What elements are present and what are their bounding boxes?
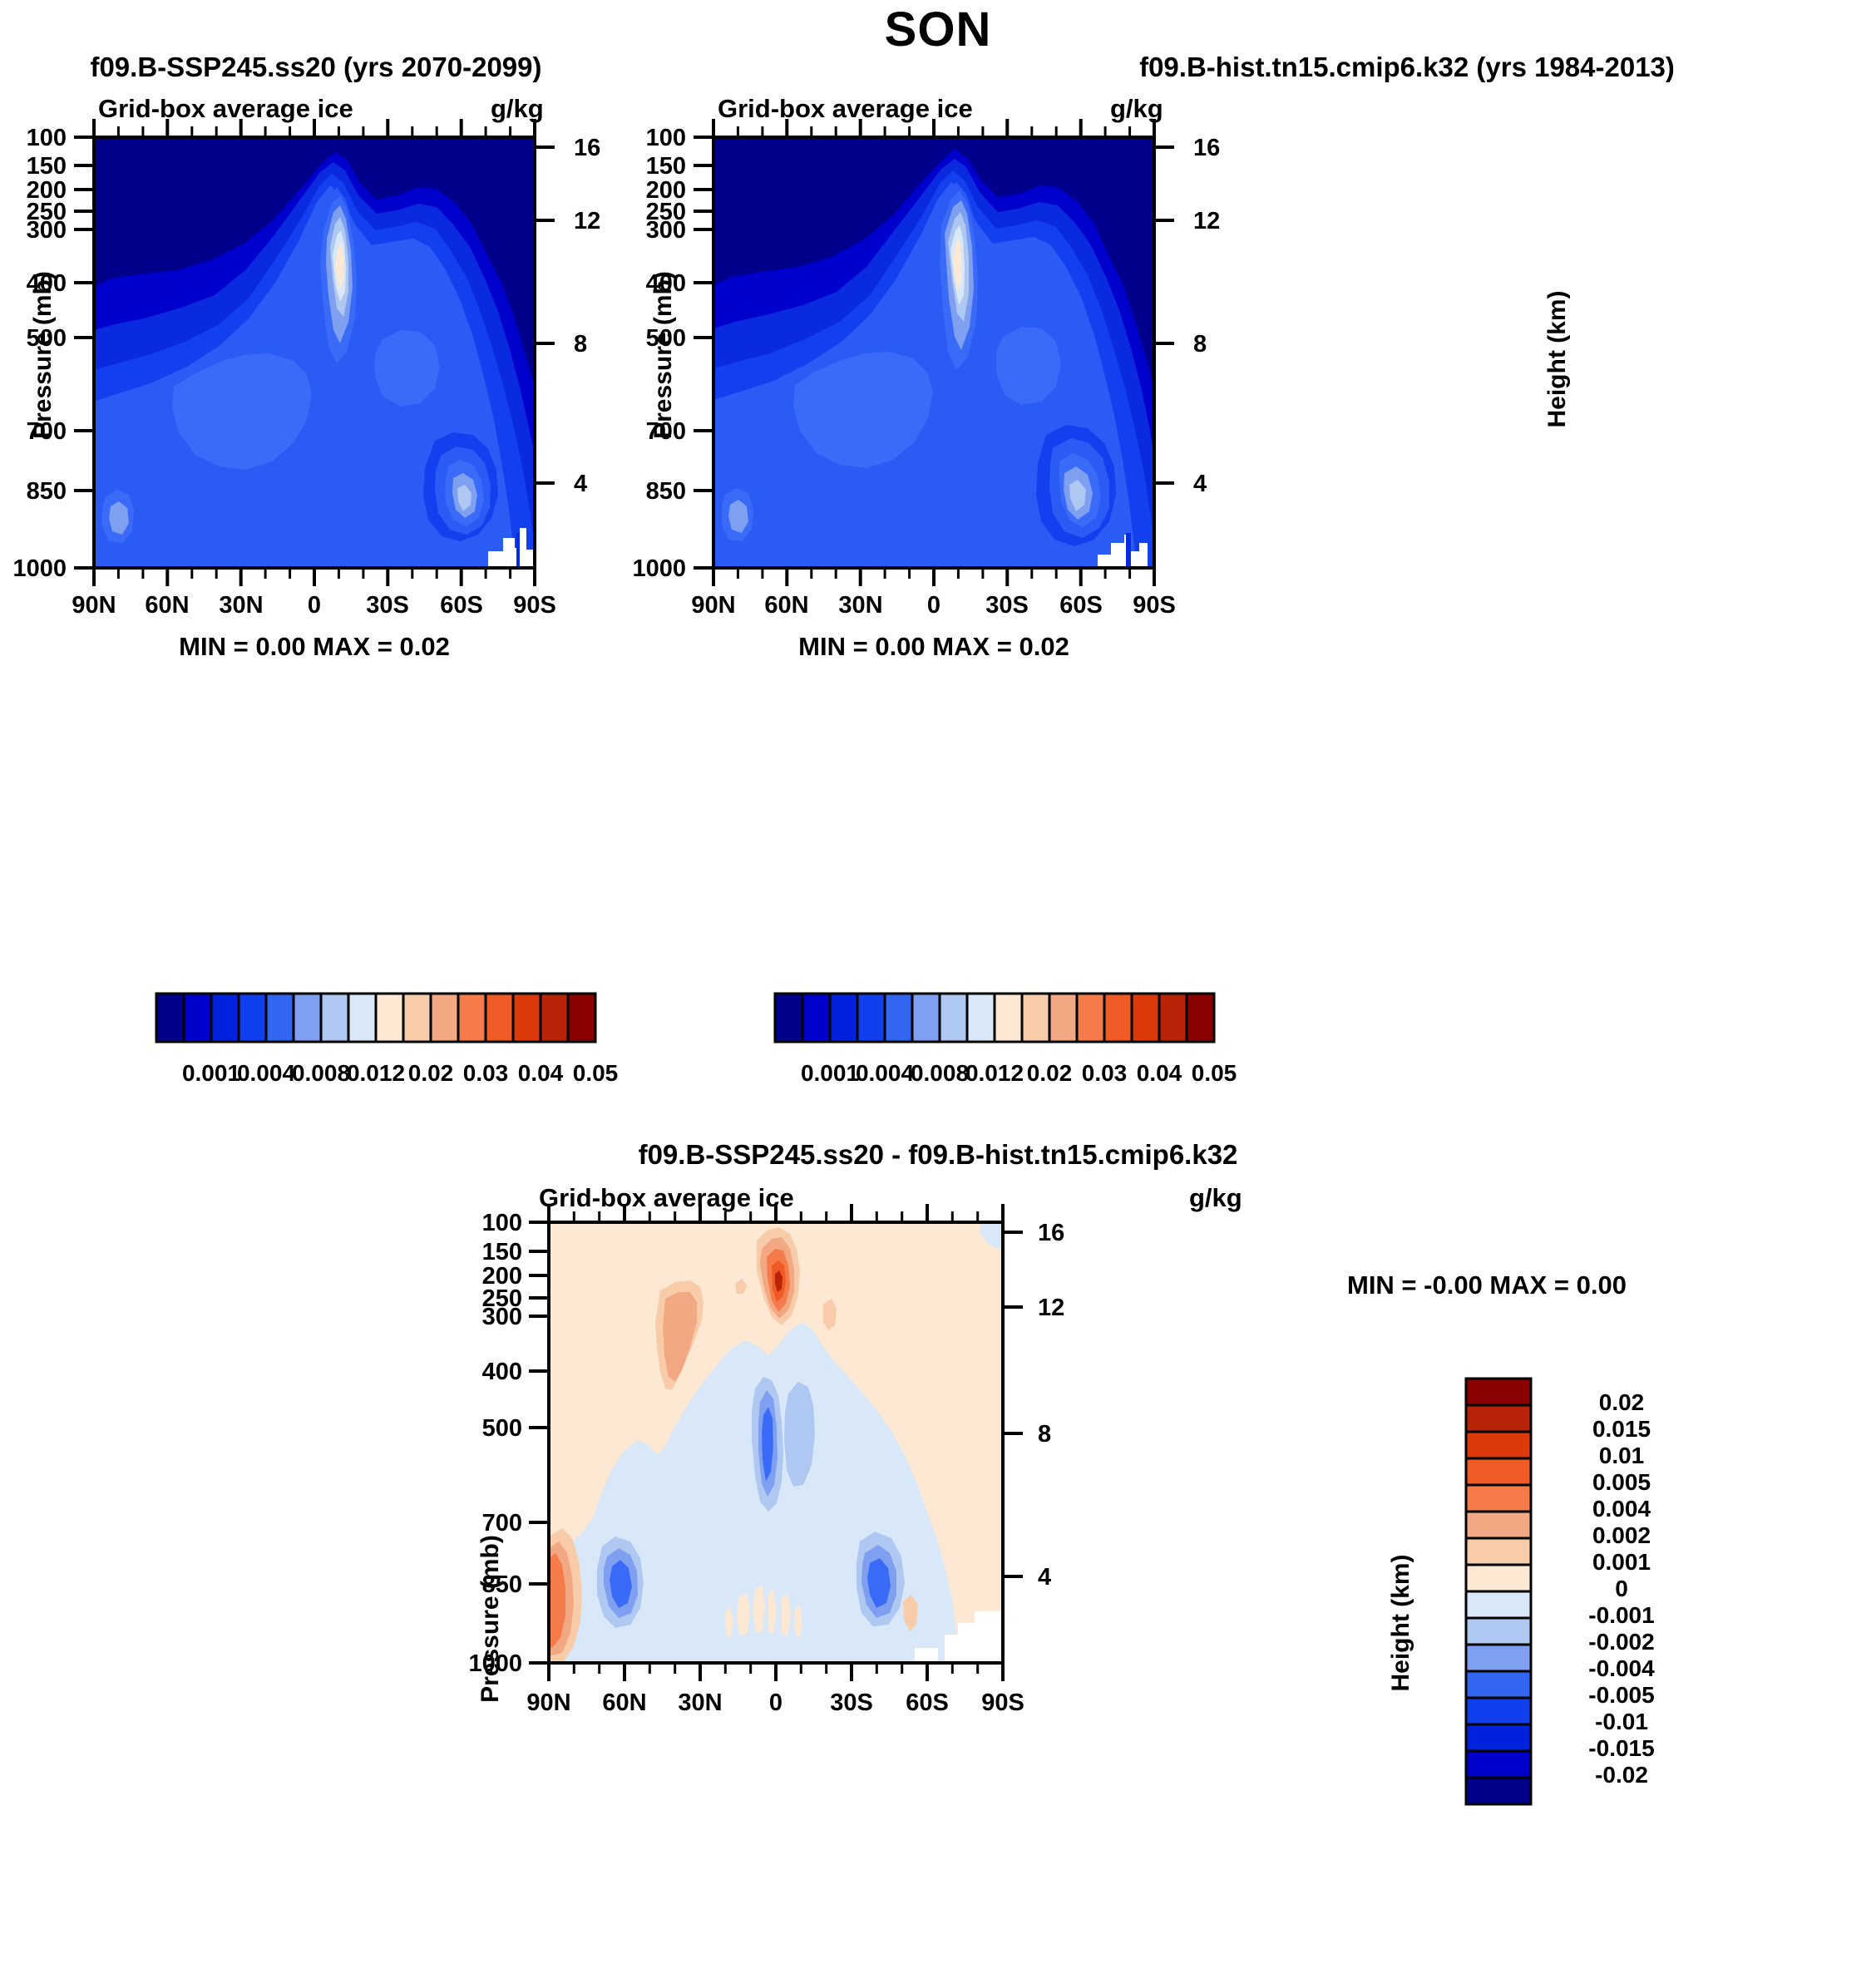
ytick-label: 700 (0, 418, 67, 446)
y2tick-label: 8 (1038, 1421, 1051, 1448)
ytick-label: 700 (456, 1510, 522, 1537)
ytick-label: 400 (0, 270, 67, 298)
colorbar-horizontal-top-left (156, 994, 600, 1047)
xtick-label: 90S (493, 592, 576, 619)
colorbar-tick-label: 0.05 (550, 1060, 641, 1087)
colorbar-vertical-difference (1466, 1379, 1541, 1811)
xtick-label: 60S (886, 1689, 969, 1717)
colorbar-tick-label: -0.005 (1551, 1682, 1692, 1709)
y2tick-label: 4 (1038, 1564, 1051, 1591)
xtick-label: 30N (200, 592, 283, 619)
xtick-label: 30S (810, 1689, 893, 1717)
xtick-label: 60N (583, 1689, 666, 1717)
panel-title-top-right: f09.B-hist.tn15.cmip6.k32 (yrs 1984-2013… (938, 52, 1876, 83)
colorbar-tick-label: 0.004 (1551, 1496, 1692, 1522)
contour-plot-difference (549, 1222, 1048, 1663)
colorbar-tick-label: 0.002 (1551, 1522, 1692, 1549)
xtick-label: 60N (745, 592, 828, 619)
xtick-label: 90N (52, 592, 136, 619)
y2-axis-title-top-right: Height (km) (1543, 255, 1572, 463)
xtick-label: 90S (1113, 592, 1196, 619)
ytick-label: 400 (620, 270, 686, 298)
y-axis-title-difference: Pressure (mb) (476, 1511, 505, 1727)
ytick-label: 500 (620, 325, 686, 353)
ytick-label: 1000 (0, 555, 67, 583)
ytick-label: 100 (620, 125, 686, 152)
xtick-label: 60N (126, 592, 209, 619)
ytick-label: 100 (456, 1210, 522, 1237)
colorbar-tick-label: 0.02 (1551, 1389, 1692, 1416)
colorbar-tick-label: -0.002 (1551, 1629, 1692, 1655)
ytick-label: 700 (620, 418, 686, 446)
y2tick-label: 12 (574, 208, 600, 235)
contour-plot-top-right (713, 137, 1430, 568)
minmax-top-right: MIN = 0.00 MAX = 0.02 (713, 632, 1154, 662)
colorbar-tick-label: 0.015 (1551, 1416, 1692, 1443)
y2tick-label: 4 (574, 471, 587, 498)
xtick-label: 0 (892, 592, 975, 619)
xtick-label: 30N (659, 1689, 742, 1717)
contour-plot-top-left (94, 137, 811, 568)
colorbar-tick-label: 0.001 (1551, 1549, 1692, 1576)
y2tick-label: 12 (1038, 1295, 1064, 1322)
xtick-label: 90N (507, 1689, 590, 1717)
y2tick-label: 8 (1193, 331, 1207, 358)
ytick-label: 1000 (449, 1650, 522, 1678)
ytick-label: 850 (0, 478, 67, 506)
units-label-difference: g/kg (1189, 1183, 1242, 1213)
xtick-label: 90S (961, 1689, 1044, 1717)
y2tick-label: 8 (574, 331, 587, 358)
xtick-label: 90N (672, 592, 755, 619)
ytick-label: 850 (620, 478, 686, 506)
ytick-label: 1000 (613, 555, 686, 583)
colorbar-tick-label: -0.01 (1551, 1709, 1692, 1735)
ytick-label: 500 (0, 325, 67, 353)
panel-difference: f09.B-SSP245.ss20 - f09.B-hist.tn15.cmip… (0, 1114, 1876, 1983)
colorbar-tick-label: -0.015 (1551, 1735, 1692, 1762)
ytick-label: 300 (0, 217, 67, 244)
figure-root: SON f09.B-SSP245.ss20 (yrs 2070-2099) Gr… (0, 0, 1876, 1983)
colorbar-tick-label: -0.004 (1551, 1655, 1692, 1682)
colorbar-horizontal-top-right (775, 994, 1219, 1047)
minmax-difference: MIN = -0.00 MAX = 0.00 (1347, 1270, 1627, 1300)
colorbar-tick-label: -0.001 (1551, 1602, 1692, 1629)
ytick-label: 300 (456, 1304, 522, 1331)
ytick-label: 400 (456, 1359, 522, 1386)
y2tick-label: 12 (1193, 208, 1220, 235)
y2tick-label: 16 (1193, 135, 1220, 162)
panel-title-top-left: f09.B-SSP245.ss20 (yrs 2070-2099) (0, 52, 632, 83)
xtick-label: 30S (346, 592, 429, 619)
y2tick-label: 4 (1193, 471, 1207, 498)
colorbar-tick-label: 0 (1551, 1576, 1692, 1602)
xtick-label: 0 (273, 592, 356, 619)
colorbar-tick-label: 0.05 (1168, 1060, 1260, 1087)
ytick-label: 100 (0, 125, 67, 152)
y2tick-label: 16 (574, 135, 600, 162)
ytick-label: 300 (620, 217, 686, 244)
colorbar-tick-label: 0.005 (1551, 1469, 1692, 1496)
xtick-label: 0 (734, 1689, 817, 1717)
ytick-label: 500 (456, 1415, 522, 1443)
y2-axis-title-difference: Height (km) (1387, 1519, 1415, 1727)
minmax-top-left: MIN = 0.00 MAX = 0.02 (94, 632, 535, 662)
y2tick-label: 16 (1038, 1220, 1064, 1247)
xtick-label: 60S (420, 592, 503, 619)
colorbar-tick-label: -0.02 (1551, 1762, 1692, 1788)
panel-top-right: f09.B-hist.tn15.cmip6.k32 (yrs 1984-2013… (938, 0, 1876, 1114)
xtick-label: 30S (965, 592, 1049, 619)
colorbar-tick-label: 0.01 (1551, 1443, 1692, 1469)
xtick-label: 30N (819, 592, 902, 619)
xtick-label: 60S (1039, 592, 1123, 619)
variable-label-difference: Grid-box average ice (539, 1183, 794, 1213)
ytick-label: 850 (456, 1571, 522, 1599)
panel-title-difference: f09.B-SSP245.ss20 - f09.B-hist.tn15.cmip… (0, 1139, 1876, 1171)
